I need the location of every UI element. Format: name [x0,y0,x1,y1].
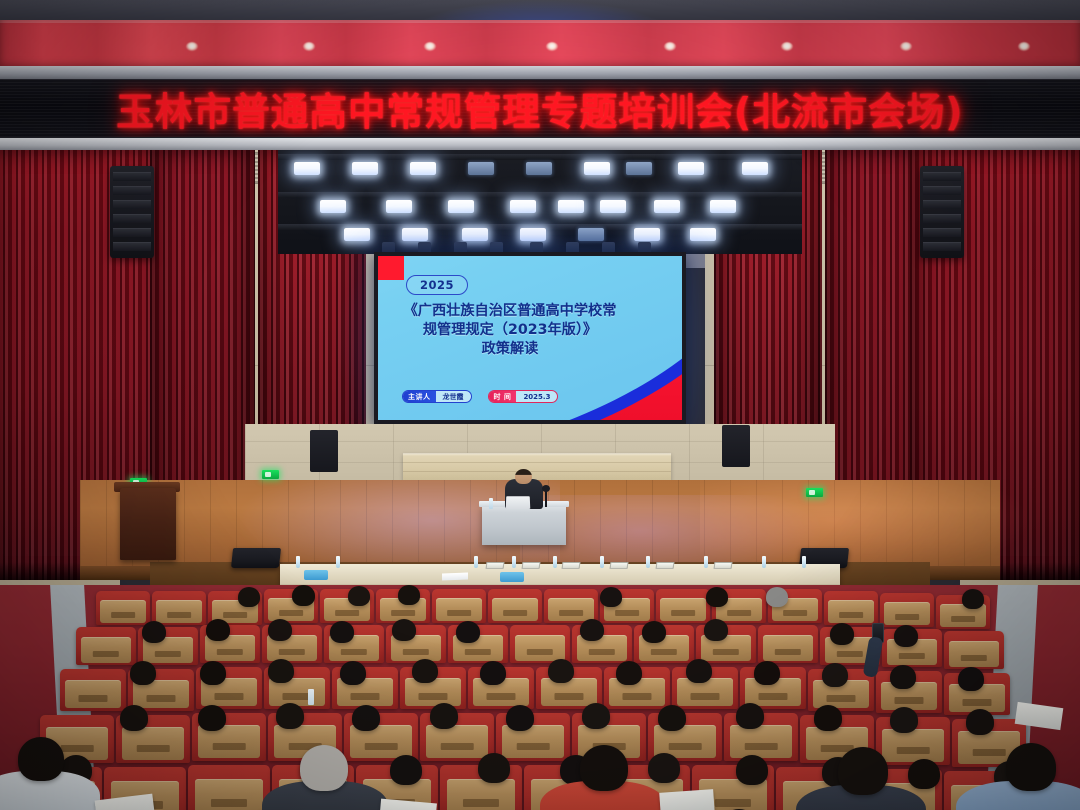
audience-head [1006,743,1056,791]
audience-head [276,703,304,729]
stage-lamp-icon [578,228,604,241]
stage-lamp-icon [678,162,704,175]
stage-lamp-icon [690,228,716,241]
audience-head [648,753,680,783]
audience-head [412,659,438,683]
audience-head [966,709,994,735]
audience-head [300,745,348,791]
cornice-trim [0,138,1080,150]
audience-seating [0,585,1080,810]
audience-head [142,621,166,643]
stage-lamp-icon [294,162,320,175]
seat[interactable] [60,669,126,711]
slide-footer: 主讲人 龙世霞 时 间 2025.3 [402,390,558,403]
stage-lamp-icon [402,228,428,241]
audience-head [814,705,842,731]
audience-head [908,759,940,789]
audience-head [340,661,366,685]
audience-head [686,659,712,683]
audience-head [736,703,764,729]
wooden-podium [120,488,176,560]
seat[interactable] [880,593,934,627]
audience-head [348,586,370,606]
table-nameplate [656,562,675,569]
table-nameplate [486,562,505,569]
seat[interactable] [510,625,570,663]
presenter-laptop [506,496,531,509]
papers-on-table [442,573,468,581]
audience-head [706,587,728,607]
slide-title: 《广西壮族自治区普通高中学校常 规管理规定（2023年版）》 政策解读 [392,302,628,359]
audience-head [894,625,918,647]
audience-head [120,705,148,731]
downlight-icon [1018,42,1030,51]
microphone-icon [542,485,550,492]
audience-head [390,755,422,785]
audience-head [754,661,780,685]
stage-lamp-icon [654,200,680,213]
stage-lamp-icon [352,162,378,175]
stage-lamp-icon [584,162,610,175]
line-array-speaker-left [110,166,154,258]
table-water-bottle [474,556,478,568]
audience-head [268,659,294,683]
table-water-bottle [600,556,604,568]
audience-head [658,705,686,731]
audience-head [642,621,666,643]
audience-head [392,619,416,641]
slide-host-value: 龙世霞 [436,391,471,402]
stage-lamp-icon [462,228,488,241]
downlight-icon [546,42,558,51]
table-water-bottle [762,556,766,568]
table-water-bottle [296,556,300,568]
stage-lamp-icon [344,228,370,241]
seat[interactable] [96,591,150,625]
seat[interactable] [188,765,270,810]
stage-lamp-icon [600,200,626,213]
exit-sign-icon-left [262,470,279,479]
slide: 2025 《广西壮族自治区普通高中学校常 规管理规定（2023年版）》 政策解读… [378,256,682,420]
seat[interactable] [944,631,1004,669]
audience-head [766,587,788,607]
seat[interactable] [758,625,818,663]
led-banner: 玉林市普通高中常规管理专题培训会(北流市会场) [0,79,1080,138]
audience-head [18,737,64,781]
audience-head [198,705,226,731]
audience-head [616,661,642,685]
audience-head [238,587,260,607]
table-water-bottle [802,556,806,568]
speaker-desk [482,505,566,545]
seat[interactable] [544,589,598,623]
audience-head [478,753,510,783]
seat[interactable] [432,589,486,623]
stage-monitor-left [231,548,281,568]
downlight-icon [664,42,676,51]
audience-head [838,747,888,795]
downlight-icon [186,42,198,51]
audience-head [330,621,354,643]
audience-head [822,663,848,687]
stage-lamp-icon [510,200,536,213]
table-water-bottle [553,556,557,568]
wooden-step-riser [403,453,671,481]
stage-lighting-rig [278,150,802,254]
line-array-speaker-right [920,166,964,258]
ceiling-trim-band [0,66,1080,80]
slide-host-label: 主讲人 [403,391,436,402]
downlight-icon [303,42,315,51]
presentation-screen: 2025 《广西壮族自治区普通高中学校常 规管理规定（2023年版）》 政策解读… [374,252,686,424]
audience-head [830,623,854,645]
stage-lamp-icon [558,200,584,213]
audience-head [398,585,420,605]
audience-head [206,619,230,641]
audience-head [890,665,916,689]
audience-head [200,661,226,685]
slide-time-label: 时 间 [489,391,517,402]
audience-head [456,621,480,643]
seat[interactable] [488,589,542,623]
audience-notebook [659,789,715,810]
led-banner-text: 玉林市普通高中常规管理专题培训会(北流市会场) [116,81,963,136]
table-water-bottle [646,556,650,568]
audience-head [352,705,380,731]
table-water-bottle [512,556,516,568]
audience-head [890,707,918,733]
audience-head [580,745,628,791]
table-nameplate [714,562,733,569]
slide-title-line-1: 《广西壮族自治区普通高中学校常 [392,302,628,321]
seat[interactable] [656,589,710,623]
desk-water-bottle [489,498,493,509]
slide-year-badge: 2025 [406,275,468,295]
seat[interactable] [76,627,136,665]
stage-lamp-icon [468,162,494,175]
stage-lamp-icon [386,200,412,213]
slide-time-value: 2025.3 [516,391,557,402]
slide-title-line-3: 政策解读 [392,340,628,359]
stage-lamp-icon [448,200,474,213]
audience-head [548,659,574,683]
stage-lamp-icon [410,162,436,175]
audience-head [962,589,984,609]
audience-head [506,705,534,731]
slide-host-pill: 主讲人 龙世霞 [402,390,472,403]
audience-head [582,703,610,729]
floor-speaker-left [310,430,338,472]
presenter-head [515,469,532,484]
audience-head [268,619,292,641]
table-water-bottle [336,556,340,568]
stage-lamp-icon [520,228,546,241]
table-nameplate [610,562,629,569]
audience-head [130,661,156,685]
exit-sign-icon-right [806,488,823,497]
audience-head [958,667,984,691]
table-nameplate [522,562,541,569]
blue-case-on-table [304,570,328,580]
stage-lamp-icon [626,162,652,175]
audience-head [292,585,315,606]
audience-head [480,661,506,685]
stage-lamp-icon [634,228,660,241]
stage-lamp-icon [710,200,736,213]
stage-lamp-icon [526,162,552,175]
front-conference-table [280,564,840,586]
blue-case-on-table [500,572,524,582]
slide-time-pill: 时 间 2025.3 [488,390,559,403]
audience-head [580,619,604,641]
downlight-icon [781,42,793,51]
ceiling-red-soffit [0,20,1080,68]
downlight-icon [900,42,912,51]
floor-speaker-right [722,425,750,467]
audience-head [430,703,458,729]
table-water-bottle [704,556,708,568]
audience-head [736,755,768,785]
downlight-icon [424,42,436,51]
seat[interactable] [824,591,878,625]
seat-water-bottle [308,689,314,705]
slide-title-line-2: 规管理规定（2023年版）》 [392,321,628,340]
stage-lamp-icon [742,162,768,175]
audience-head [600,587,622,607]
stage-lamp-icon [320,200,346,213]
seat[interactable] [152,591,206,625]
audience-head [704,619,728,641]
conference-hall-photo: 玉林市普通高中常规管理专题培训会(北流市会场) [0,0,1080,810]
table-nameplate [562,562,581,569]
